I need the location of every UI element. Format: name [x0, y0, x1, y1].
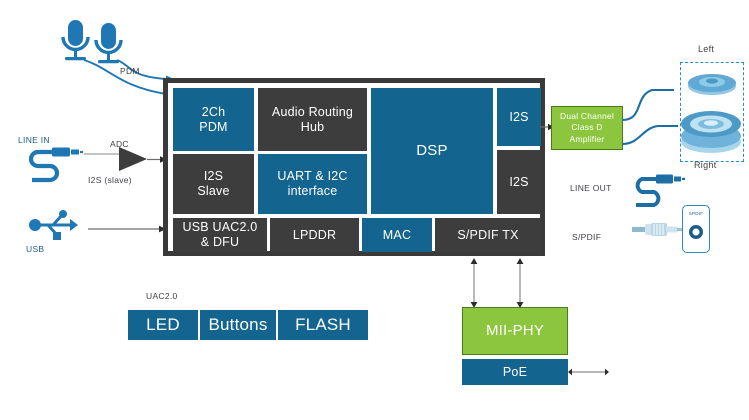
spdif-jack-port: SPDIF	[682, 205, 710, 253]
speaker-large-icon	[678, 98, 744, 154]
chip-block-spdif-tx[interactable]: S/PDIF TX	[435, 218, 541, 252]
chip-block-usb-line2: & DFU	[201, 235, 240, 249]
chip-block-mac-label: MAC	[383, 228, 411, 243]
amplifier-line3: Amplifier	[570, 134, 605, 144]
speaker-small-icon	[686, 70, 738, 98]
chip-block-i2s-slave-line1: I2S	[204, 169, 223, 183]
line-in-to-adc-wire	[84, 150, 124, 158]
soc-chip-package: 2Ch PDM Audio Routing Hub DSP I2S I2S Sl…	[163, 78, 545, 256]
chip-block-dsp[interactable]: DSP	[371, 88, 493, 214]
uac-label: UAC2.0	[146, 291, 178, 301]
flash-label: FLASH	[295, 315, 351, 335]
chip-block-usb-line1: USB UAC2.0	[183, 220, 258, 234]
chip-block-pdm[interactable]: 2Ch PDM	[173, 88, 254, 151]
led-label: LED	[146, 315, 180, 335]
usb-label: USB	[26, 244, 44, 254]
chip-block-spdif-tx-label: S/PDIF TX	[457, 228, 518, 243]
chip-block-routing-line2: Hub	[301, 120, 325, 134]
buttons-label: Buttons	[208, 315, 267, 335]
poe-external-arrow	[568, 367, 612, 377]
chip-block-i2s-top-label: I2S	[509, 110, 528, 125]
class-d-amplifier-block[interactable]: Dual Channel Class D Amplifier	[551, 106, 623, 150]
amplifier-line1: Dual Channel	[560, 111, 614, 121]
chip-block-lpddr[interactable]: LPDDR	[270, 218, 359, 252]
speaker-right-label: Right	[694, 160, 717, 170]
chip-block-i2s-bottom-label: I2S	[509, 175, 528, 190]
chip-block-pdm-line2: PDM	[199, 120, 227, 134]
peripheral-led-block[interactable]: LED	[128, 310, 198, 340]
usb-icon	[27, 208, 81, 242]
usb-to-chip-arrow	[88, 224, 168, 234]
pdm-label: PDM	[120, 66, 140, 76]
adc-triangle-icon	[119, 147, 149, 171]
i2s-slave-input-label: I2S (slave)	[88, 175, 132, 185]
peripheral-flash-block[interactable]: FLASH	[278, 310, 368, 340]
chip-block-dsp-label: DSP	[416, 142, 447, 160]
chip-block-lpddr-label: LPDDR	[293, 228, 336, 243]
line-out-jack-icon	[628, 172, 686, 206]
chip-block-uart-i2c[interactable]: UART & I2C interface	[258, 154, 367, 214]
chip-block-usb-uac[interactable]: USB UAC2.0 & DFU	[173, 218, 267, 252]
speaker-left-label: Left	[698, 44, 714, 54]
block-diagram-canvas: PDM LINE IN ADC I2S (slave) USB	[0, 0, 749, 420]
mac-to-miiphy-arrows	[468, 258, 538, 308]
spdif-jack-label: SPDIF	[683, 211, 709, 216]
chip-block-mac[interactable]: MAC	[362, 218, 432, 252]
poe-label: PoE	[503, 365, 527, 380]
line-out-label: LINE OUT	[570, 183, 612, 193]
poe-block[interactable]: PoE	[462, 359, 568, 385]
chip-block-i2s-slave-line2: Slave	[197, 184, 229, 198]
mii-phy-block[interactable]: MII-PHY	[462, 307, 568, 355]
chip-block-uart-line2: interface	[288, 184, 338, 198]
spdif-label: S/PDIF	[572, 232, 601, 242]
chip-block-pdm-line1: 2Ch	[202, 105, 226, 119]
chip-block-uart-line1: UART & I2C	[277, 169, 347, 183]
chip-block-audio-routing-hub[interactable]: Audio Routing Hub	[258, 88, 367, 151]
line-in-jack-icon	[24, 144, 86, 180]
spdif-jack-hole	[689, 225, 703, 239]
chip-block-i2s-slave[interactable]: I2S Slave	[173, 154, 254, 214]
amplifier-line2: Class D	[571, 122, 602, 132]
mii-phy-label: MII-PHY	[486, 322, 544, 340]
chip-block-routing-line1: Audio Routing	[272, 105, 353, 119]
chip-block-i2s-bottom[interactable]: I2S	[497, 150, 541, 214]
chip-block-i2s-top[interactable]: I2S	[497, 88, 541, 146]
peripheral-buttons-block[interactable]: Buttons	[200, 310, 276, 340]
